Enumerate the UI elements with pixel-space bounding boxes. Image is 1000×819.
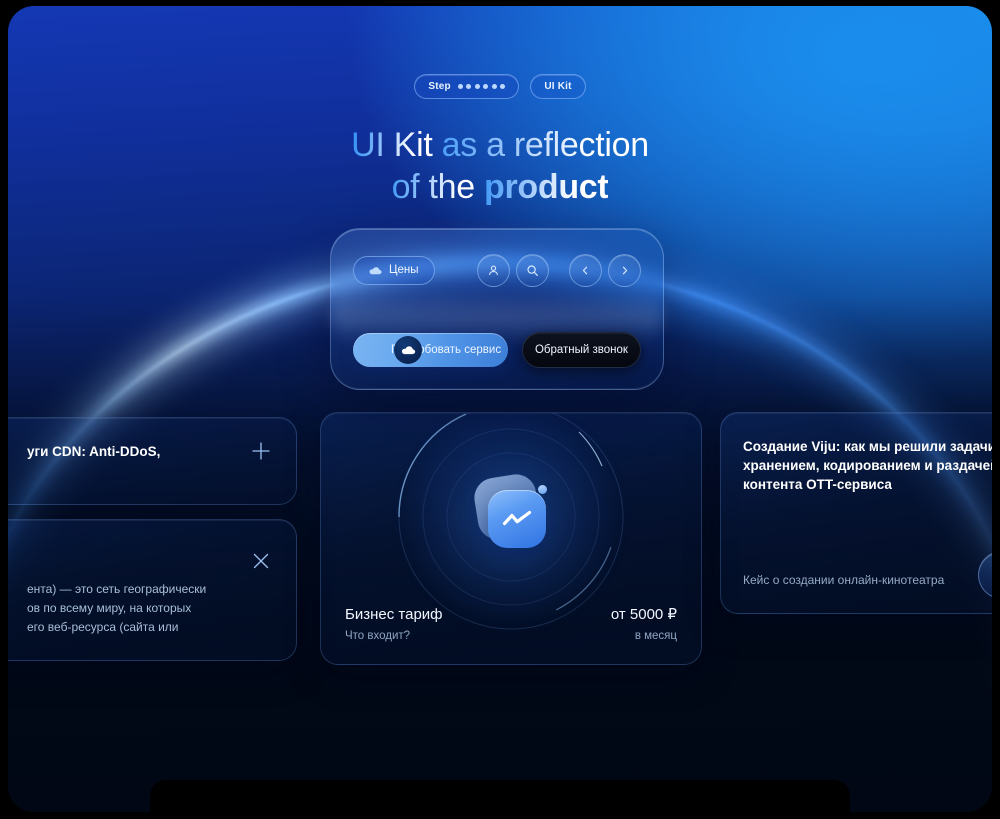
step-dots-icon <box>458 84 506 89</box>
article-card-subtitle: Кейс о создании онлайн-кинотеатра <box>743 572 981 589</box>
price-card-footer: Бизнес тариф от 5000 ₽ Что входит? в мес… <box>345 605 677 642</box>
prices-pill-label: Цены <box>389 264 419 276</box>
price-card-price: от 5000 ₽ <box>611 605 677 623</box>
chevron-left-icon <box>580 265 591 276</box>
faq-item-1-title: уги CDN: Anti-DDoS, <box>27 444 232 459</box>
screenshot-stage: Step UI Kit UI Kit as a reflection of th… <box>0 0 1000 819</box>
price-card-title: Бизнес тариф <box>345 606 443 623</box>
badge-step[interactable]: Step <box>414 74 519 99</box>
toolbar-top-row: Цены <box>353 253 641 287</box>
page-title: UI Kit as a reflection of the product <box>8 128 992 212</box>
badge-uikit[interactable]: UI Kit <box>530 74 585 99</box>
hero-line2-light: of the <box>392 168 484 206</box>
user-button[interactable] <box>477 254 510 287</box>
hero-panel: Step UI Kit UI Kit as a reflection of th… <box>8 6 992 812</box>
next-button[interactable] <box>608 254 641 287</box>
badge-step-label: Step <box>428 81 450 92</box>
article-card[interactable]: Создание Viju: как мы решили задачи с хр… <box>720 412 992 614</box>
hero-line2-bold: product <box>484 168 608 206</box>
glass-toolbar: Цены <box>330 228 664 390</box>
search-icon <box>526 264 539 277</box>
try-service-button[interactable]: Попробовать сервис <box>353 333 508 367</box>
faq-item-2-body: ента) — это сеть географически ов по все… <box>27 580 260 637</box>
hero-accent: UI Kit <box>351 126 432 164</box>
badge-row: Step UI Kit <box>8 74 992 99</box>
cloud-icon <box>394 336 422 364</box>
app-icon-front-layer <box>488 490 546 548</box>
article-card-title: Создание Viju: как мы решили задачи с хр… <box>743 437 992 494</box>
app-icon-dot <box>538 485 547 494</box>
toolbar-bottom-row: Попробовать сервис Обратный звонок <box>353 333 641 367</box>
price-card-period: в месяц <box>635 630 677 642</box>
price-card[interactable]: Бизнес тариф от 5000 ₽ Что входит? в мес… <box>320 412 702 665</box>
faq-item-2[interactable]: ента) — это сеть географически ов по все… <box>8 519 297 661</box>
price-card-subtitle[interactable]: Что входит? <box>345 630 410 642</box>
toolbar-icon-group-2 <box>569 254 641 287</box>
hero-line1-rest: as a reflection <box>433 126 649 164</box>
chart-app-icon <box>468 474 554 560</box>
close-icon[interactable] <box>250 550 272 572</box>
callback-label: Обратный звонок <box>535 344 628 356</box>
toolbar-icon-group-1 <box>477 254 549 287</box>
search-button[interactable] <box>516 254 549 287</box>
faq-item-1[interactable]: уги CDN: Anti-DDoS, <box>8 417 297 505</box>
badge-uikit-label: UI Kit <box>544 81 571 92</box>
chevron-right-icon <box>619 265 630 276</box>
callback-button[interactable]: Обратный звонок <box>522 332 641 368</box>
user-icon <box>487 264 500 277</box>
bottom-notch <box>150 780 850 812</box>
prev-button[interactable] <box>569 254 602 287</box>
cloud-icon <box>369 266 382 275</box>
prices-pill-button[interactable]: Цены <box>353 256 435 285</box>
plus-icon[interactable] <box>250 440 272 462</box>
